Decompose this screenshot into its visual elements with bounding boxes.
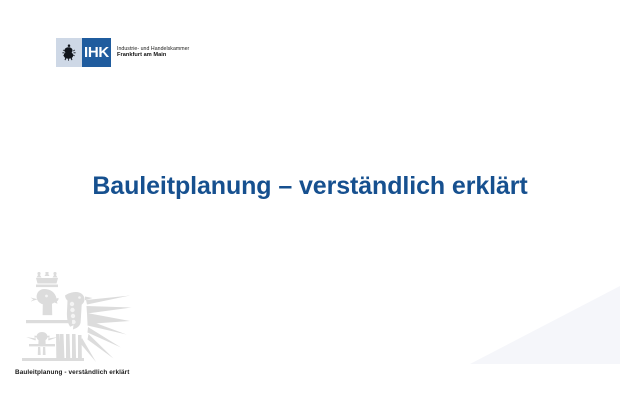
- watermark-block: Bauleitplanung - verständlich erklärt: [4, 272, 150, 376]
- corner-wedge-shape: [470, 286, 620, 364]
- ihk-mark-box: IHK: [82, 38, 111, 67]
- watermark-caption: Bauleitplanung - verständlich erklärt: [15, 369, 150, 376]
- ihk-wordmark-line2: Frankfurt am Main: [117, 52, 189, 59]
- ihk-logo: IHK Industrie- und Handelskammer Frankfu…: [56, 38, 189, 67]
- ihk-eagle-crest-icon: [60, 43, 78, 63]
- frankfurt-eagle-watermark-icon: [4, 272, 150, 368]
- presentation-slide: IHK Industrie- und Handelskammer Frankfu…: [0, 0, 620, 413]
- ihk-wordmark: Industrie- und Handelskammer Frankfurt a…: [117, 38, 189, 67]
- ihk-mark-text: IHK: [84, 45, 109, 60]
- ihk-crest-box: [56, 38, 82, 67]
- slide-title: Bauleitplanung – verständlich erklärt: [0, 172, 620, 201]
